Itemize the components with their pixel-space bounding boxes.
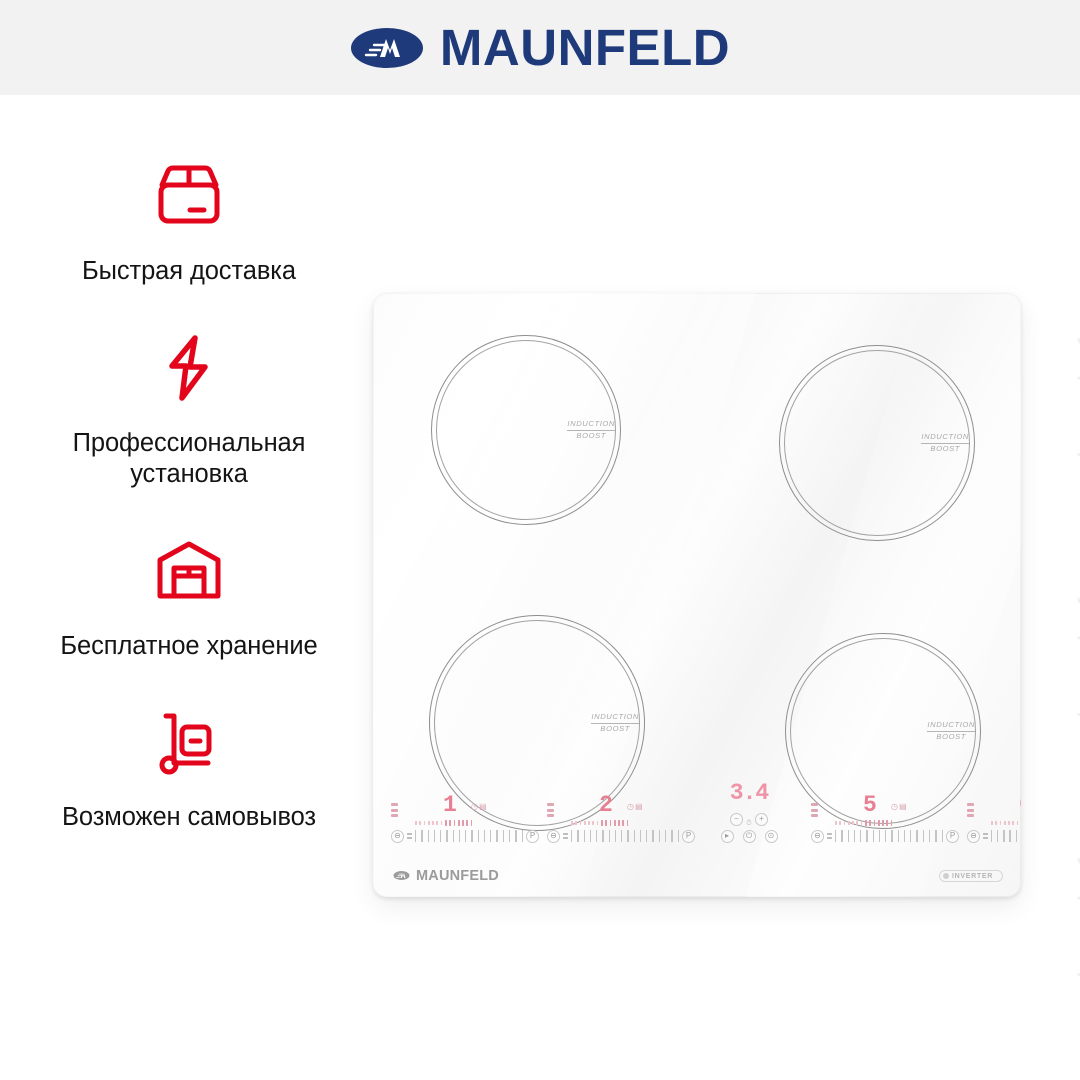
page-root: MAUNFELD Быстрая доставка [0,0,1080,1080]
burner-label-line1: INDUCTION [591,712,639,724]
zone-status-glyphs: ◷▤ [471,803,488,811]
burner-label-line2: BOOST [927,732,975,742]
clock-icon: ⏱ [746,820,751,827]
minus-button[interactable]: ⊖ [547,830,560,843]
zone-slider-row[interactable]: ⊖ P [811,827,959,845]
minus-button[interactable]: ⊖ [391,830,404,843]
product-brand-badge: MAUNFELD [393,869,499,884]
boost-button[interactable]: P [526,830,539,843]
zone-progress-dots [415,819,539,827]
hand-truck-icon [150,696,228,788]
burner-top-left[interactable]: INDUCTION BOOST [431,335,621,525]
zone-level-digit: 2 [599,794,612,817]
zone-slider-row[interactable]: ⊖ P [547,827,695,845]
burner-label: INDUCTION BOOST [927,720,975,742]
zone-control-6[interactable]: 6 ◷▤ ⊖ P [967,787,1021,845]
minus-button[interactable]: ⊖ [967,830,980,843]
zone-level-digit: 1 [443,794,456,817]
feature-professional-installation: Профессиональная установка [0,322,378,491]
zone-display-2: 2 ◷▤ [547,787,695,819]
cooktop-glass-surface: INDUCTION BOOST INDUCTION BOOST INDUCTIO… [373,293,1021,897]
zone-indicator-bars [391,803,398,817]
brand-lockup: MAUNFELD [350,22,730,73]
burner-label-line2: BOOST [591,724,639,734]
timer-adjust-row[interactable]: − + ⏱ [701,811,797,827]
power-button[interactable]: ⏻ [743,830,756,843]
watermark-column: hausdorf.ru hausdorf.ru hausdorf.ru haus… [1012,0,1080,1080]
zone-control-5[interactable]: 5 ◷▤ ⊖ P [811,787,959,845]
feature-free-storage: Бесплатное хранение [0,525,378,663]
zone-status-glyphs: ◷▤ [891,803,908,811]
master-buttons-row[interactable]: ▸ ⏻ ⊙ [701,827,797,845]
zone-touch-slider[interactable] [835,830,943,843]
zone-indicator-bars [967,803,974,817]
boost-button[interactable]: P [682,830,695,843]
feature-label: Быстрая доставка [82,256,296,288]
zone-level-digit: 6 [1019,794,1021,817]
zone-mini-indicator [407,833,412,839]
zone-indicator-bars [547,803,554,817]
boost-button[interactable]: P [946,830,959,843]
burner-label-line2: BOOST [567,431,615,441]
timer-control[interactable]: 3.4 − + ⏱ ▸ ⏻ ⊙ [701,782,797,845]
zone-progress-dots [991,819,1021,827]
zone-display-5: 5 ◷▤ [811,787,959,819]
minus-button[interactable]: ⊖ [811,830,824,843]
inverter-badge-label: INVERTER [939,870,1003,882]
zone-progress-dots [835,819,959,827]
burner-label: INDUCTION BOOST [921,432,969,454]
feature-self-pickup: Возможен самовывоз [0,696,378,834]
burner-label-line1: INDUCTION [927,720,975,732]
burner-top-right[interactable]: INDUCTION BOOST [779,345,975,541]
watermark-text: hausdorf.ru [1074,300,1080,458]
zone-slider-row[interactable]: ⊖ P [967,827,1021,845]
zone-touch-slider[interactable] [991,830,1021,843]
watermark-text: hausdorf.ru [1074,560,1080,718]
zone-display-1: 1 ◷▤ [391,787,539,819]
burner-label-line1: INDUCTION [921,432,969,444]
zone-progress-dots [571,819,695,827]
product-brand-word: MAUNFELD [416,869,499,884]
burner-label-line2: BOOST [921,444,969,454]
timer-display: 3.4 [701,782,797,805]
lightning-bolt-icon [150,322,228,414]
zone-display-6: 6 ◷▤ [967,787,1021,819]
brand-wordmark: MAUNFELD [440,22,730,73]
zone-mini-indicator [983,833,988,839]
warehouse-icon [150,525,228,617]
zone-status-glyphs: ◷▤ [627,803,644,811]
play-button[interactable]: ▸ [721,830,734,843]
watermark-text: hausdorf.ru [1074,820,1080,978]
lock-button[interactable]: ⊙ [765,830,778,843]
zone-mini-indicator [563,833,568,839]
maunfeld-ellipse-logo-small [393,870,410,881]
zone-level-digit: 5 [863,794,876,817]
burner-label: INDUCTION BOOST [591,712,639,734]
zone-touch-slider[interactable] [571,830,679,843]
burner-label-line1: INDUCTION [567,419,615,431]
zone-touch-slider[interactable] [415,830,523,843]
features-list: Быстрая доставка Профессиональная устано… [0,150,378,868]
timer-minus-button[interactable]: − [730,813,743,826]
maunfeld-ellipse-logo [350,24,424,72]
feature-label: Бесплатное хранение [60,631,317,663]
product-image-cooktop: INDUCTION BOOST INDUCTION BOOST INDUCTIO… [373,293,1021,897]
site-header: MAUNFELD [0,0,1080,95]
zone-slider-row[interactable]: ⊖ P [391,827,539,845]
feature-fast-delivery: Быстрая доставка [0,150,378,288]
zone-mini-indicator [827,833,832,839]
zone-indicator-bars [811,803,818,817]
delivery-box-icon [150,150,228,242]
zone-control-1[interactable]: 1 ◷▤ ⊖ P [391,787,539,845]
feature-label: Возможен самовывоз [62,802,316,834]
touch-control-panel: 1 ◷▤ ⊖ P [391,767,1003,845]
zone-control-2[interactable]: 2 ◷▤ ⊖ P [547,787,695,845]
inverter-badge: INVERTER [939,870,1003,882]
feature-label: Профессиональная установка [24,428,354,491]
burner-label: INDUCTION BOOST [567,419,615,441]
timer-plus-button[interactable]: + [755,813,768,826]
